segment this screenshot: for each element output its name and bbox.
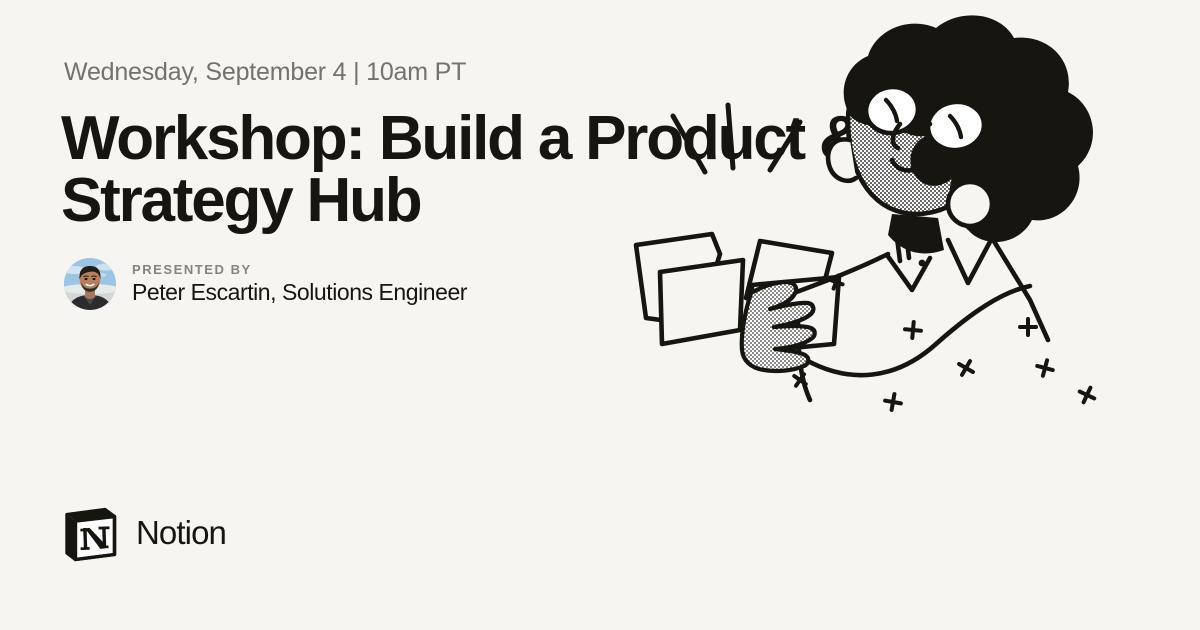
presenter-text: PRESENTED BY Peter Escartin, Solutions E… — [132, 262, 467, 306]
notion-logo-icon — [64, 504, 120, 562]
neck-shadow — [888, 214, 944, 254]
eyes — [886, 100, 961, 137]
collar-dot — [919, 260, 926, 267]
nose — [893, 124, 900, 148]
notion-brand-lockup: Notion — [64, 504, 226, 562]
avatar — [64, 258, 116, 310]
event-date-time: Wednesday, September 4 | 10am PT — [64, 58, 466, 87]
smile — [892, 160, 922, 170]
notion-wordmark: Notion — [136, 514, 226, 552]
eyebrow — [960, 94, 996, 104]
body-and-arm — [775, 254, 1030, 400]
shirt-collar — [887, 230, 1048, 340]
shirt-plus-pattern — [790, 273, 1097, 411]
stippled-hand — [742, 282, 815, 371]
hoop-earring-icon — [948, 182, 992, 226]
page-title: Workshop: Build a Product & Strategy Hub — [61, 108, 891, 232]
content-column: Wednesday, September 4 | 10am PT Worksho… — [64, 0, 704, 630]
presenter-block: PRESENTED BY Peter Escartin, Solutions E… — [64, 258, 467, 310]
presenter-name: Peter Escartin, Solutions Engineer — [132, 279, 467, 306]
presented-by-label: PRESENTED BY — [132, 262, 467, 277]
event-announcement-card: Wednesday, September 4 | 10am PT Worksho… — [0, 0, 1200, 630]
